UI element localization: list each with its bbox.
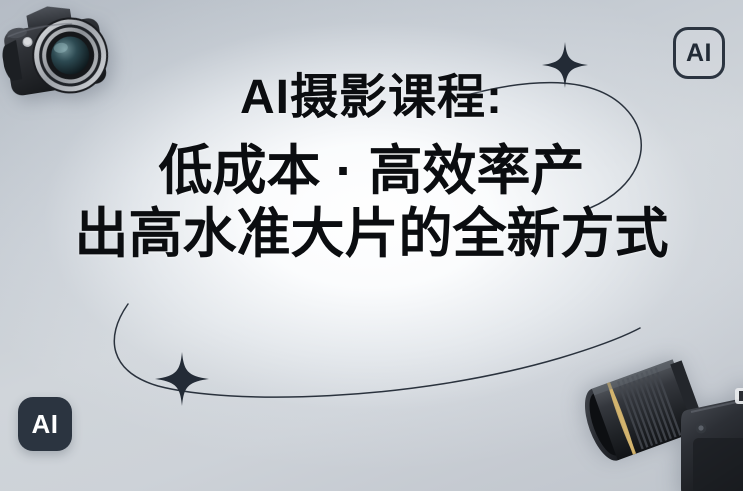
subtitle-block: 低成本 · 高效率产 出高水准大片的全新方式 xyxy=(0,140,743,266)
camera-bottom-right-image xyxy=(575,352,743,491)
subtitle-line-2: 出高水准大片的全新方式 xyxy=(0,203,743,266)
ai-badge-filled-label: AI xyxy=(32,411,59,437)
sparkle-bottom-icon xyxy=(155,352,209,406)
poster-canvas: AI AI AI摄影课程: 低成本 · 高效率产 出高水准大片的全新方式 xyxy=(0,0,743,491)
ai-badge-filled: AI xyxy=(18,397,72,451)
subtitle-line-1: 低成本 · 高效率产 xyxy=(0,140,743,203)
page-title: AI摄影课程: xyxy=(0,72,743,124)
ai-badge-outline-label: AI xyxy=(686,41,712,66)
headline-block: AI摄影课程: 低成本 · 高效率产 出高水准大片的全新方式 xyxy=(0,72,743,266)
swoosh-bottom xyxy=(80,298,640,468)
